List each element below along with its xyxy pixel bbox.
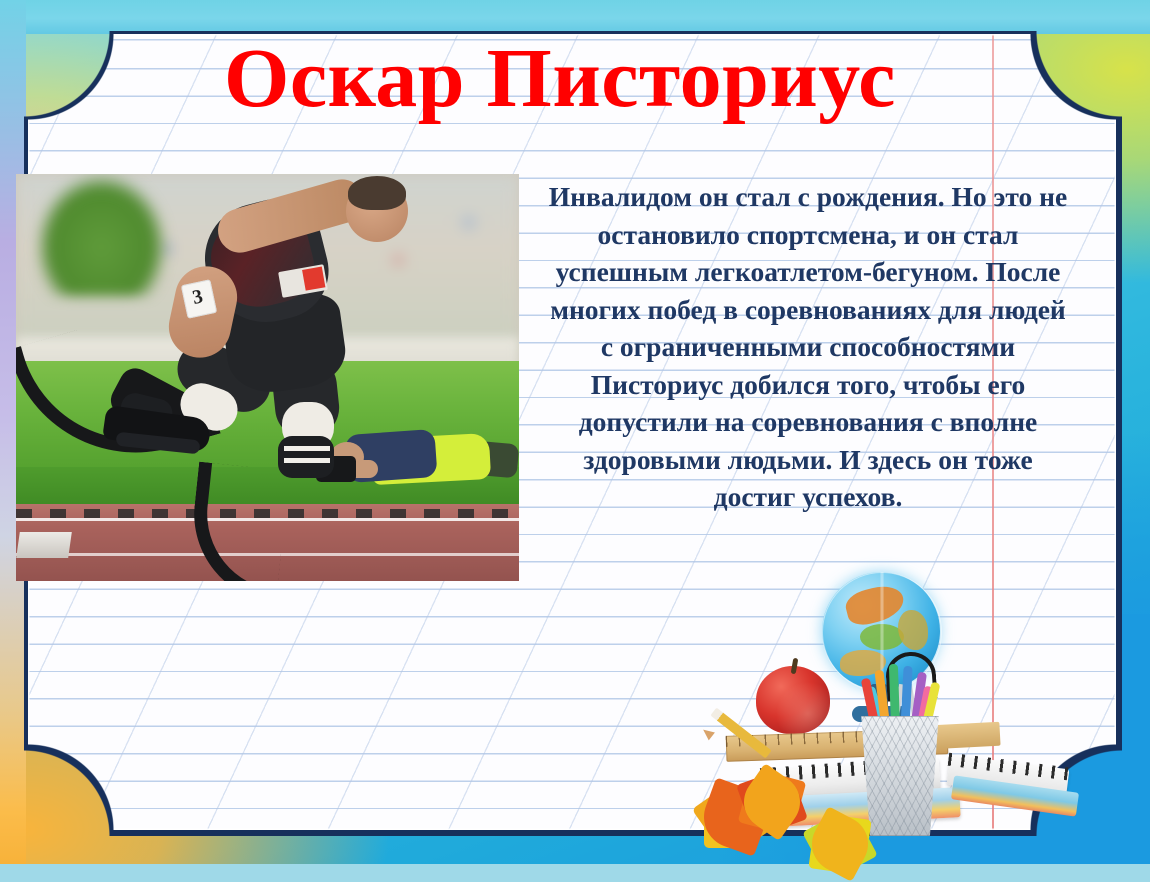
prosthetic-strap-1: [284, 446, 330, 451]
photo-starting-blocks: [16, 532, 72, 558]
prosthetic-strap-2: [284, 458, 330, 463]
apple-highlight: [756, 666, 830, 734]
pencil-tip: [700, 726, 715, 741]
photo-tree: [36, 174, 167, 296]
background-top-band: [0, 0, 1150, 34]
prosthetic-cuff-right: [278, 436, 334, 478]
pencil-cup-mesh: [856, 716, 944, 836]
body-paragraph: Инвалидом он стал с рождения. Но это не …: [548, 178, 1068, 516]
maple-leaf-2: [744, 774, 800, 830]
school-supplies-clipart: [700, 566, 1120, 856]
athlete-hair: [348, 176, 406, 210]
page-title: Оскар Писториус: [120, 30, 1000, 128]
athlete-photo: [16, 174, 519, 581]
